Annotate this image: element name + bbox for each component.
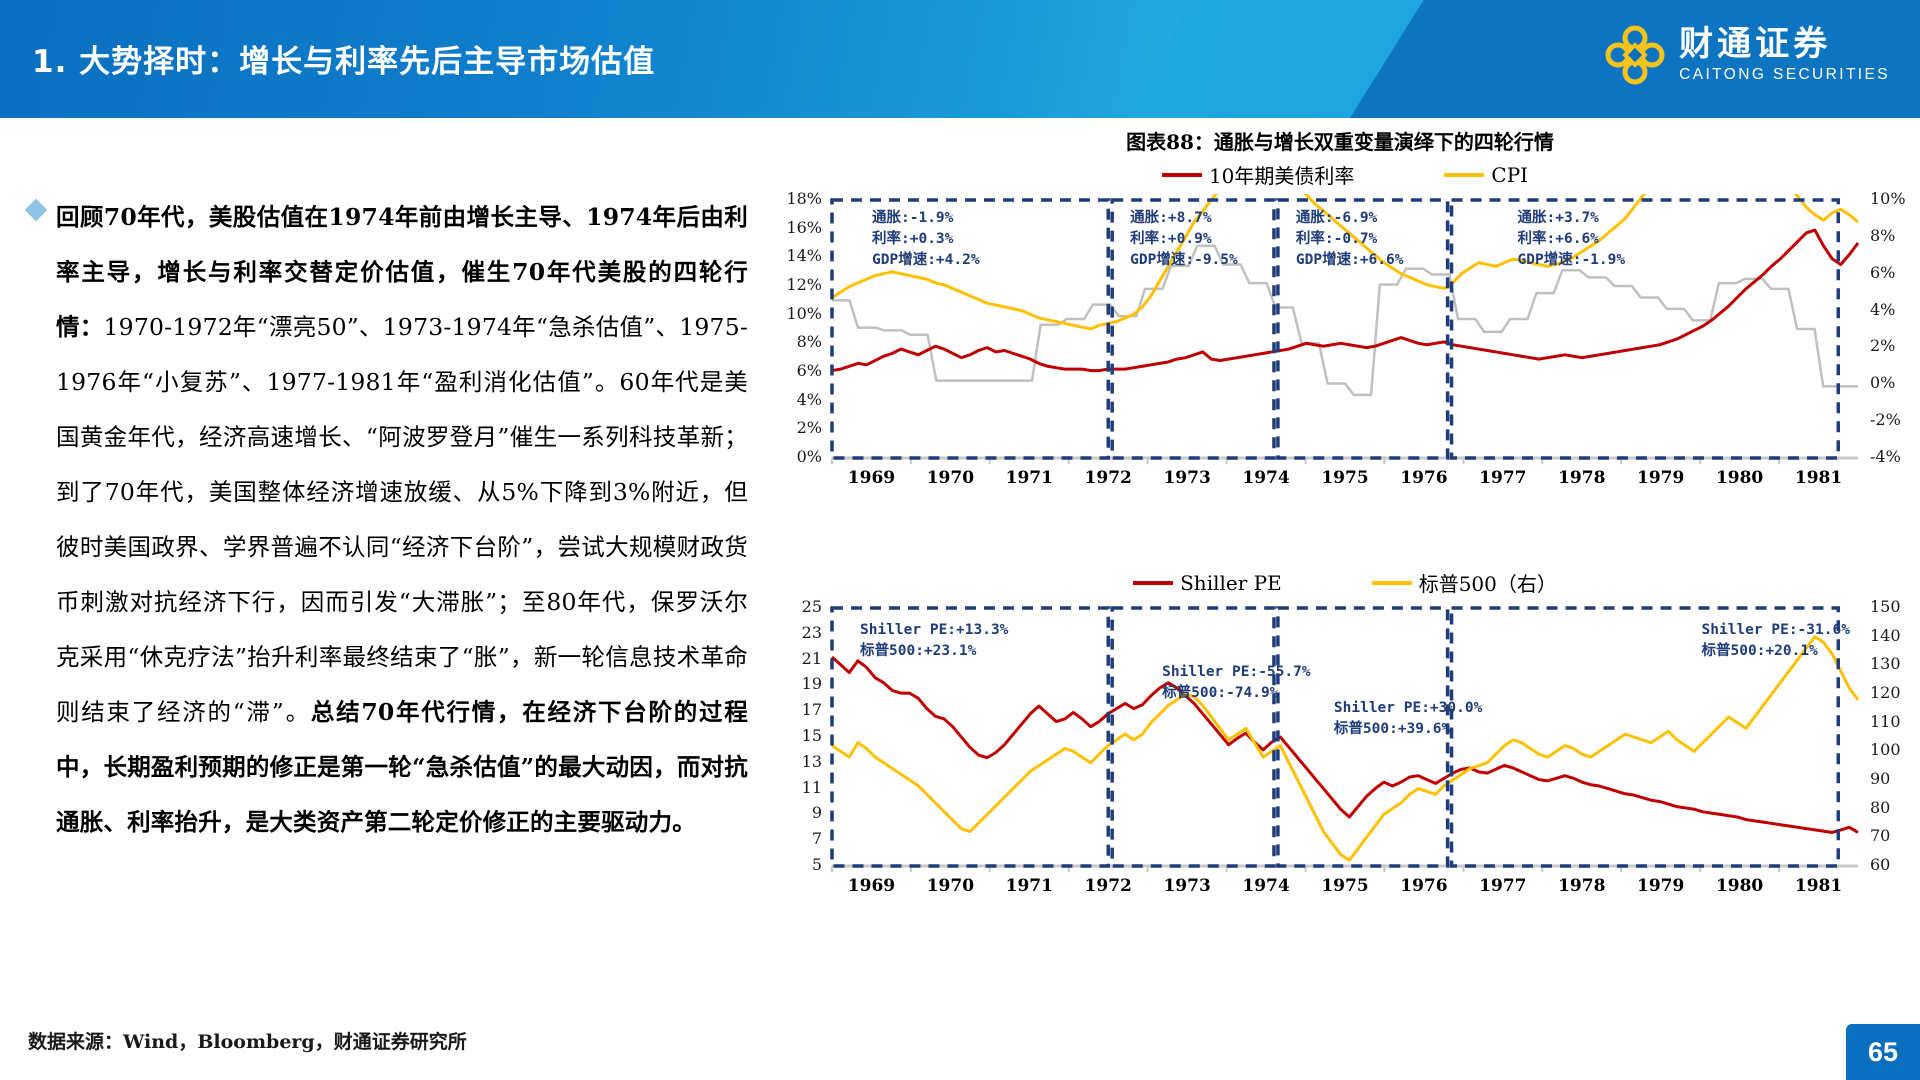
- y-axis-right-tick-label: 70: [1870, 826, 1920, 845]
- page-number-badge: 65: [1846, 1024, 1920, 1080]
- regime-region-box-3: [1452, 200, 1839, 458]
- y-axis-right-tick-label: 140: [1870, 626, 1920, 645]
- y-axis-left-tick-label: 9: [770, 803, 822, 822]
- y-axis-left-tick-label: 18%: [770, 189, 822, 208]
- x-axis-tick-label: 1979: [1631, 876, 1691, 896]
- chart-bottom-pe-sp500: Shiller PE标普500（右） 579111315171921232560…: [770, 568, 1920, 938]
- region-annotation-line: GDP增速:-1.9%: [1518, 250, 1626, 271]
- region-annotation-line: 通胀:+8.7%: [1130, 208, 1238, 229]
- y-axis-left-tick-label: 5: [770, 855, 822, 874]
- y-axis-right-tick-label: 4%: [1870, 300, 1920, 319]
- y-axis-left-tick-label: 12%: [770, 275, 822, 294]
- y-axis-left-tick-label: 10%: [770, 304, 822, 323]
- chart-bottom-plot: 5791113151719212325607080901001101201301…: [770, 602, 1920, 902]
- x-axis-tick-label: 1974: [1236, 468, 1296, 488]
- region-annotation-line: GDP增速:+6.6%: [1296, 250, 1404, 271]
- x-axis-tick-label: 1970: [920, 876, 980, 896]
- legend-item-0: 10年期美债利率: [1162, 160, 1354, 189]
- legend-swatch-icon: [1444, 173, 1484, 177]
- legend-item-0: Shiller PE: [1133, 571, 1282, 595]
- y-axis-right-tick-label: -4%: [1870, 447, 1920, 466]
- chart-top-legend: 10年期美债利率CPI: [770, 160, 1920, 189]
- y-axis-left-tick-label: 8%: [770, 332, 822, 351]
- region-annotation-line: 利率:+6.6%: [1518, 229, 1626, 250]
- region-annotation-line: 标普500:+20.1%: [1702, 641, 1850, 662]
- x-axis-tick-label: 1972: [1078, 468, 1138, 488]
- caitong-logo-icon: [1604, 24, 1666, 86]
- chart-top-rates-cpi: 10年期美债利率CPI 0%2%4%6%8%10%12%14%16%18%-4%…: [770, 160, 1920, 540]
- y-axis-right-tick-label: 80: [1870, 798, 1920, 817]
- x-axis-tick-label: 1973: [1157, 468, 1217, 488]
- region-annotation-line: 利率:+0.9%: [1130, 229, 1238, 250]
- x-axis-tick-label: 1975: [1315, 876, 1375, 896]
- y-axis-left-tick-label: 19: [770, 674, 822, 693]
- y-axis-left-tick-label: 17: [770, 700, 822, 719]
- x-axis-tick-label: 1971: [999, 468, 1059, 488]
- region-annotation-3: 通胀:+3.7%利率:+6.6%GDP增速:-1.9%: [1518, 208, 1626, 271]
- region-annotation-1: Shiller PE:-55.7%标普500:-74.9%: [1162, 662, 1310, 704]
- region-annotation-line: 通胀:+3.7%: [1518, 208, 1626, 229]
- x-axis-tick-label: 1971: [999, 876, 1059, 896]
- content-text-column: 回顾70年代，美股估值在1974年前由增长主导、1974年后由利率主导，增长与利…: [28, 190, 748, 850]
- region-annotation-line: 标普500:+39.6%: [1334, 719, 1482, 740]
- body-paragraph: 回顾70年代，美股估值在1974年前由增长主导、1974年后由利率主导，增长与利…: [56, 190, 748, 850]
- x-axis-tick-label: 1980: [1710, 876, 1770, 896]
- y-axis-right-tick-label: 110: [1870, 712, 1920, 731]
- region-annotation-2: Shiller PE:+30.0%标普500:+39.6%: [1334, 698, 1482, 740]
- legend-label: CPI: [1491, 163, 1528, 187]
- x-axis-tick-label: 1978: [1552, 876, 1612, 896]
- y-axis-right-tick-label: 130: [1870, 654, 1920, 673]
- region-annotation-2: 通胀:-6.9%利率:-0.7%GDP增速:+6.6%: [1296, 208, 1404, 271]
- y-axis-left-tick-label: 0%: [770, 447, 822, 466]
- x-axis-tick-label: 1969: [841, 876, 901, 896]
- region-annotation-line: 标普500:+23.1%: [860, 641, 1008, 662]
- region-annotation-line: GDP增速:-9.5%: [1130, 250, 1238, 271]
- y-axis-right-tick-label: 100: [1870, 740, 1920, 759]
- region-annotation-line: 通胀:-6.9%: [1296, 208, 1404, 229]
- brand-logo: 财通证券 CAITONG SECURITIES: [1604, 24, 1890, 86]
- legend-item-1: 标普500（右）: [1372, 568, 1557, 597]
- legend-swatch-icon: [1162, 173, 1202, 177]
- y-axis-left-tick-label: 6%: [770, 361, 822, 380]
- region-annotation-line: Shiller PE:+30.0%: [1334, 698, 1482, 719]
- y-axis-left-tick-label: 23: [770, 623, 822, 642]
- x-axis-tick-label: 1972: [1078, 876, 1138, 896]
- series-line-标普500（右）: [832, 637, 1858, 861]
- region-annotation-0: 通胀:-1.9%利率:+0.3%GDP增速:+4.2%: [872, 208, 980, 271]
- page-title: 1. 大势择时：增长与利率先后主导市场估值: [32, 36, 655, 81]
- x-axis-tick-label: 1979: [1631, 468, 1691, 488]
- region-annotation-line: 利率:+0.3%: [872, 229, 980, 250]
- region-annotation-line: 利率:-0.7%: [1296, 229, 1404, 250]
- y-axis-left-tick-label: 21: [770, 649, 822, 668]
- chart-caption: 图表88：通胀与增长双重变量演绎下的四轮行情: [760, 126, 1920, 155]
- y-axis-right-tick-label: -2%: [1870, 410, 1920, 429]
- y-axis-left-tick-label: 2%: [770, 418, 822, 437]
- logo-text-en: CAITONG SECURITIES: [1679, 67, 1890, 83]
- y-axis-right-tick-label: 6%: [1870, 263, 1920, 282]
- y-axis-right-tick-label: 8%: [1870, 226, 1920, 245]
- x-axis-tick-label: 1973: [1157, 876, 1217, 896]
- logo-text-cn: 财通证券: [1679, 27, 1890, 61]
- region-annotation-0: Shiller PE:+13.3%标普500:+23.1%: [860, 620, 1008, 662]
- x-axis-tick-label: 1978: [1552, 468, 1612, 488]
- chart-top-plot: 0%2%4%6%8%10%12%14%16%18%-4%-2%0%2%4%6%8…: [770, 194, 1920, 494]
- y-axis-right-tick-label: 60: [1870, 855, 1920, 874]
- y-axis-right-tick-label: 0%: [1870, 373, 1920, 392]
- legend-swatch-icon: [1133, 581, 1173, 585]
- legend-item-1: CPI: [1444, 163, 1528, 187]
- region-annotation-line: Shiller PE:-55.7%: [1162, 662, 1310, 683]
- y-axis-left-tick-label: 13: [770, 752, 822, 771]
- region-annotation-line: 标普500:-74.9%: [1162, 683, 1310, 704]
- page-header: 1. 大势择时：增长与利率先后主导市场估值 财通证券 CAITONG SECUR…: [0, 0, 1920, 118]
- data-source-note: 数据来源：Wind，Bloomberg，财通证券研究所: [28, 1027, 467, 1054]
- chart-bottom-legend: Shiller PE标普500（右）: [770, 568, 1920, 597]
- region-annotation-line: Shiller PE:-31.6%: [1702, 620, 1850, 641]
- region-annotation-3: Shiller PE:-31.6%标普500:+20.1%: [1702, 620, 1850, 662]
- y-axis-left-tick-label: 7: [770, 829, 822, 848]
- x-axis-tick-label: 1980: [1710, 468, 1770, 488]
- x-axis-tick-label: 1976: [1394, 876, 1454, 896]
- x-axis-tick-label: 1977: [1473, 468, 1533, 488]
- charts-panel: 图表88：通胀与增长双重变量演绎下的四轮行情 10年期美债利率CPI 0%2%4…: [760, 118, 1920, 1018]
- legend-label: Shiller PE: [1180, 571, 1282, 595]
- region-annotation-1: 通胀:+8.7%利率:+0.9%GDP增速:-9.5%: [1130, 208, 1238, 271]
- y-axis-right-tick-label: 90: [1870, 769, 1920, 788]
- y-axis-left-tick-label: 14%: [770, 246, 822, 265]
- x-axis-tick-label: 1981: [1789, 876, 1849, 896]
- x-axis-tick-label: 1976: [1394, 468, 1454, 488]
- region-annotation-line: GDP增速:+4.2%: [872, 250, 980, 271]
- x-axis-tick-label: 1981: [1789, 468, 1849, 488]
- x-axis-tick-label: 1970: [920, 468, 980, 488]
- y-axis-right-tick-label: 150: [1870, 597, 1920, 616]
- y-axis-left-tick-label: 11: [770, 778, 822, 797]
- y-axis-right-tick-label: 2%: [1870, 336, 1920, 355]
- x-axis-tick-label: 1977: [1473, 876, 1533, 896]
- legend-label: 10年期美债利率: [1209, 160, 1354, 189]
- region-annotation-line: 通胀:-1.9%: [872, 208, 980, 229]
- diamond-bullet-icon: [25, 199, 48, 222]
- legend-swatch-icon: [1372, 581, 1412, 585]
- y-axis-right-tick-label: 120: [1870, 683, 1920, 702]
- y-axis-left-tick-label: 4%: [770, 390, 822, 409]
- y-axis-left-tick-label: 25: [770, 597, 822, 616]
- x-axis-tick-label: 1969: [841, 468, 901, 488]
- region-annotation-line: Shiller PE:+13.3%: [860, 620, 1008, 641]
- x-axis-tick-label: 1974: [1236, 876, 1296, 896]
- series-line-Shiller PE: [832, 657, 1858, 832]
- y-axis-right-tick-label: 10%: [1870, 189, 1920, 208]
- legend-label: 标普500（右）: [1419, 568, 1557, 597]
- x-axis-tick-label: 1975: [1315, 468, 1375, 488]
- y-axis-left-tick-label: 15: [770, 726, 822, 745]
- y-axis-left-tick-label: 16%: [770, 218, 822, 237]
